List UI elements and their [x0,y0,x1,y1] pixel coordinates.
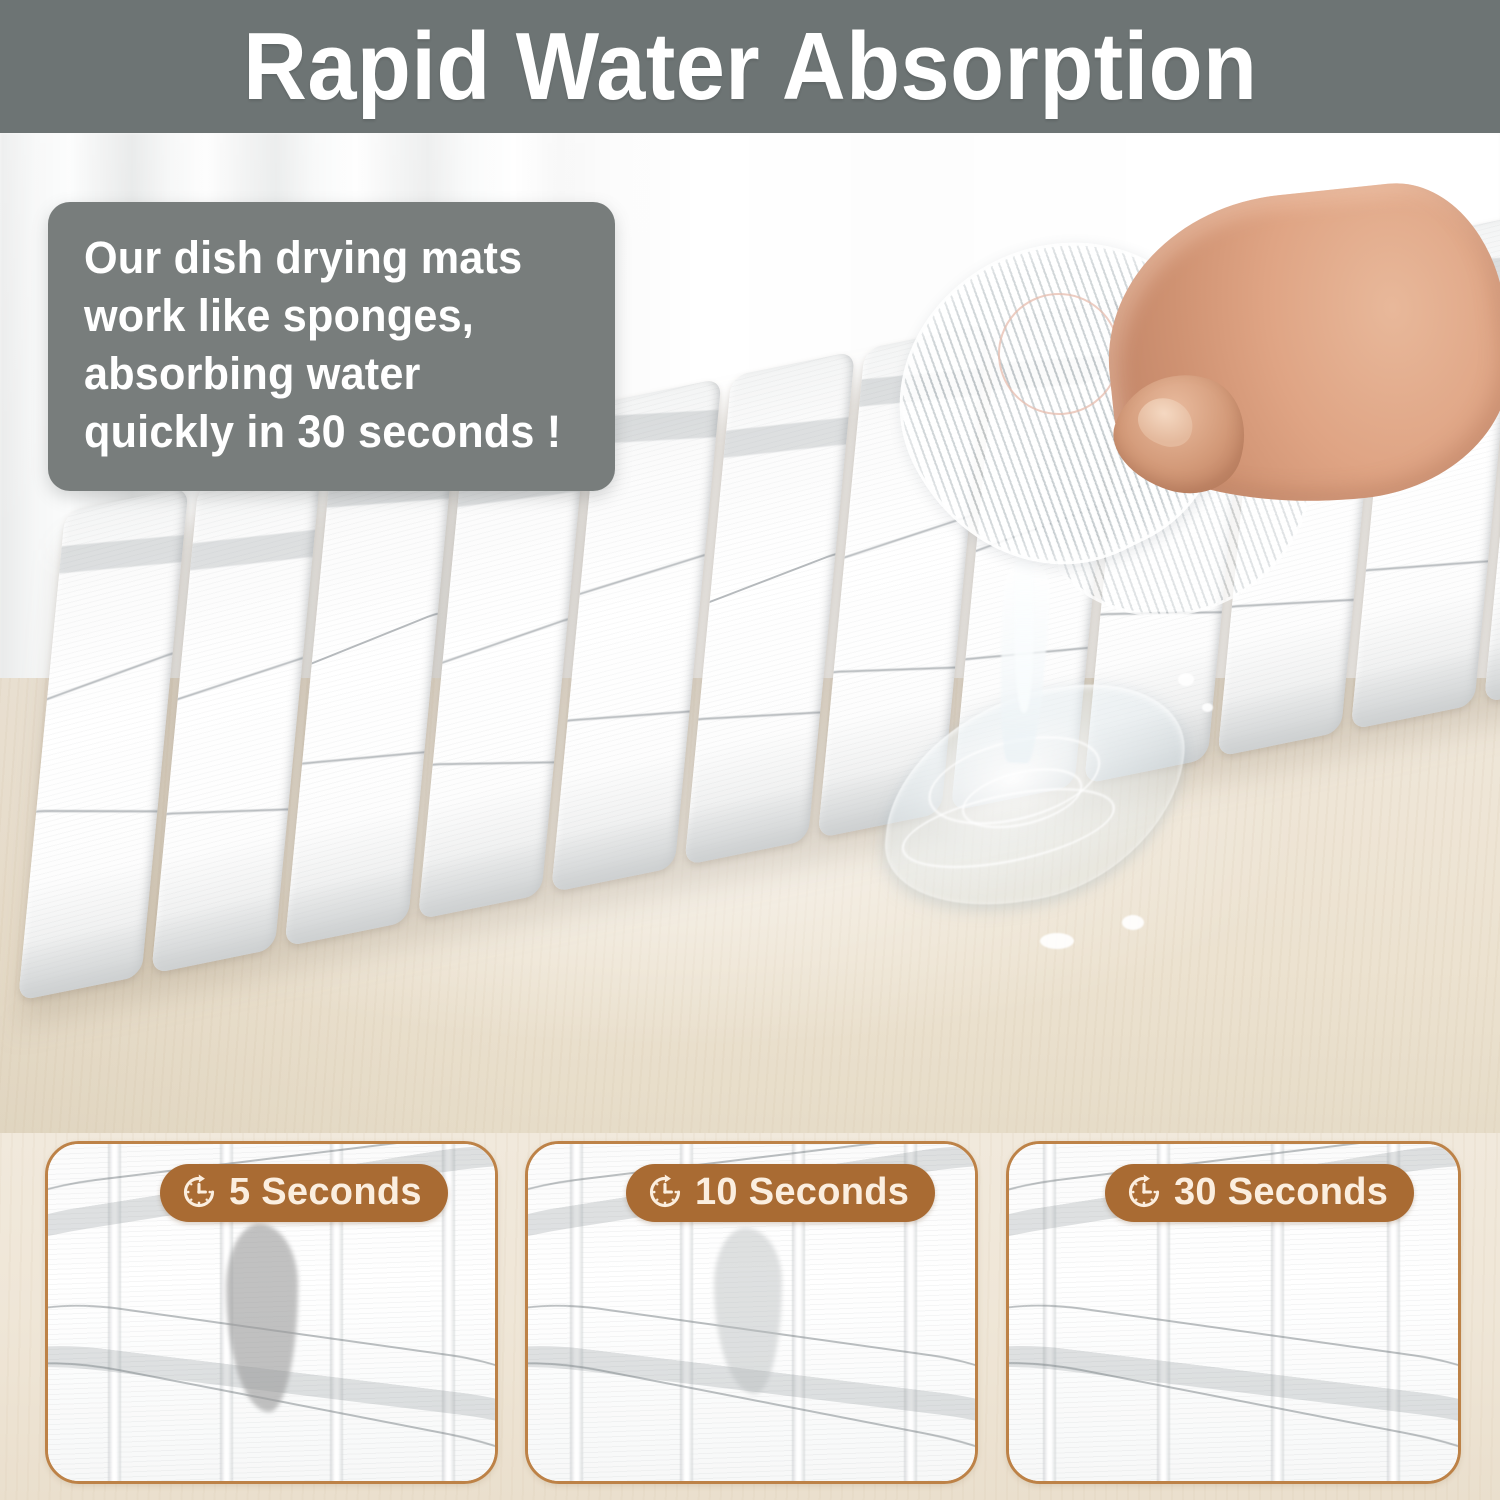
water-droplet [1122,915,1144,930]
callout-text: Our dish drying mats work like sponges, … [84,229,565,461]
page-title: Rapid Water Absorption [243,19,1257,115]
water-droplet [1040,933,1074,949]
timeline-panel[interactable]: 5 Seconds [45,1141,498,1484]
duration-badge: 10 Seconds [626,1164,935,1222]
duration-badge: 30 Seconds [1105,1164,1414,1222]
duration-label: 30 Seconds [1174,1173,1388,1211]
header-banner: Rapid Water Absorption [0,0,1500,133]
product-infographic: Rapid Water Absorption [0,0,1500,1500]
duration-label: 10 Seconds [695,1173,909,1211]
timer-clock-icon [1125,1173,1163,1211]
timer-clock-icon [646,1173,684,1211]
feature-callout: Our dish drying mats work like sponges, … [48,202,615,491]
duration-label: 5 Seconds [229,1173,422,1211]
absorption-timeline: 5 Seconds [0,1133,1500,1500]
pouring-glass-group [880,193,1500,673]
water-droplet [1178,673,1194,686]
timeline-panel[interactable]: 10 Seconds [525,1141,978,1484]
duration-badge: 5 Seconds [160,1164,448,1222]
timer-clock-icon [180,1173,218,1211]
water-droplet [1202,703,1213,712]
timeline-panel[interactable]: 30 Seconds [1006,1141,1461,1484]
